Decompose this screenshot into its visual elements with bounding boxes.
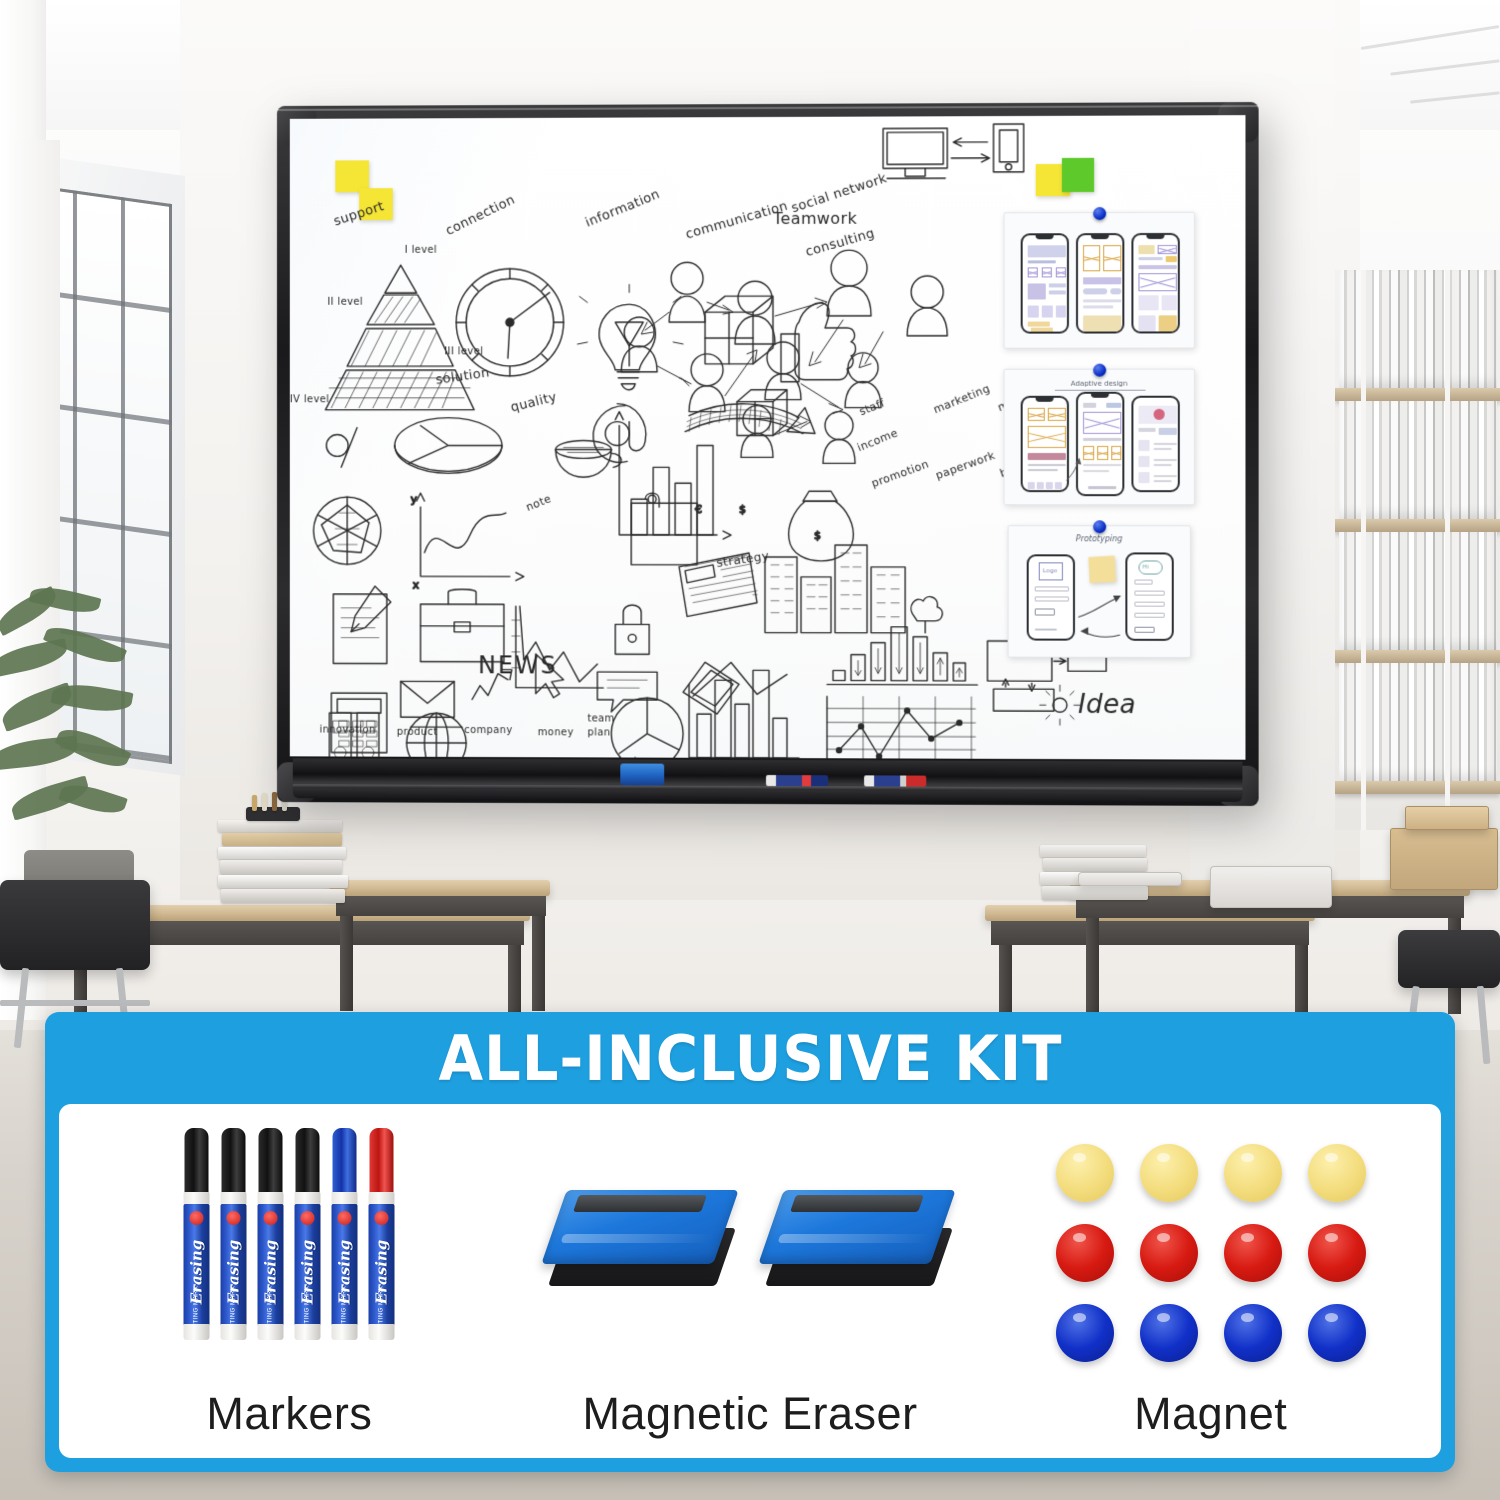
desk-leg: [340, 916, 353, 1011]
kit-column-markers: Erasing LASTING MARK Erasing LASTI: [59, 1104, 520, 1458]
marker-foot: [221, 1324, 247, 1340]
svg-text:paperwork: paperwork: [934, 449, 997, 483]
marker-logo-icon: [227, 1211, 241, 1225]
marker-sub-word: LASTING MARK: [268, 1286, 274, 1326]
marker-sub-word: LASTING MARK: [342, 1286, 348, 1326]
printout-prototyping[interactable]: Prototyping Logo Hi: [1008, 525, 1191, 658]
marker-body: Erasing LASTING MARK: [221, 1204, 247, 1326]
erasers-group: [554, 1182, 946, 1300]
marker-body: Erasing LASTING MARK: [258, 1204, 284, 1326]
cardboard-box-lid: [1405, 806, 1489, 830]
marker-cap: [296, 1128, 320, 1196]
svg-text:promotion: promotion: [870, 457, 931, 490]
office-chair: [0, 880, 150, 970]
marker-foot: [258, 1324, 284, 1340]
phone-wireframe: [1131, 233, 1179, 334]
marker-cap: [222, 1128, 246, 1196]
svg-text:strategy: strategy: [716, 549, 771, 570]
magnetic-eraser: [771, 1182, 946, 1300]
marker-cap: [259, 1128, 283, 1196]
magnetic-eraser: [554, 1182, 729, 1300]
desk-apron: [991, 921, 1309, 945]
whiteboard-pen-tray: [293, 758, 1243, 802]
tray-marker-red[interactable]: [864, 775, 926, 786]
svg-text:plan: plan: [587, 728, 610, 739]
eraser-magnet-strip: [790, 1195, 924, 1212]
magnet-yellow: [1308, 1144, 1366, 1202]
product-image-scene: y x $ € $: [0, 0, 1500, 1500]
kit-card: Erasing LASTING MARK Erasing LASTI: [59, 1104, 1441, 1458]
svg-text:II level: II level: [327, 297, 363, 308]
marker-body: Erasing LASTING MARK: [332, 1204, 358, 1326]
svg-text:company: company: [464, 725, 513, 736]
desk: [330, 880, 550, 896]
svg-text:Teamwork: Teamwork: [772, 209, 858, 228]
kit-label-magnetic-eraser: Magnetic Eraser: [520, 1388, 981, 1440]
book-stack: [218, 820, 348, 910]
eraser-magnet-strip: [573, 1195, 707, 1212]
magnet-blue: [1224, 1304, 1282, 1362]
kit-column-magnetic-eraser: Magnetic Eraser: [520, 1104, 981, 1458]
office-chair: [1398, 930, 1500, 988]
markers-group: Erasing LASTING MARK Erasing LASTI: [184, 1128, 395, 1340]
svg-text:I level: I level: [405, 245, 437, 256]
marker: Erasing LASTING MARK: [258, 1128, 284, 1340]
svg-text:y: y: [411, 493, 418, 506]
phone-wireframe: [1076, 233, 1124, 333]
svg-text:information: information: [583, 187, 662, 231]
marker-cap: [185, 1128, 209, 1196]
magnet-yellow: [1056, 1144, 1114, 1202]
marker-body: Erasing LASTING MARK: [295, 1204, 321, 1326]
marker-body: Erasing LASTING MARK: [369, 1204, 395, 1326]
magnet-blue: [1308, 1304, 1366, 1362]
marker-logo-icon: [264, 1211, 278, 1225]
marker-sub-word: LASTING MARK: [194, 1286, 200, 1326]
magnet-red: [1224, 1224, 1282, 1282]
svg-text:$: $: [739, 503, 746, 516]
kit-banner-title: ALL-INCLUSIVE KIT: [438, 1022, 1062, 1095]
eraser-highlight: [560, 1234, 713, 1243]
svg-text:innovation: innovation: [319, 725, 375, 736]
marker: Erasing LASTING MARK: [221, 1128, 247, 1340]
svg-text:staff: staff: [857, 396, 887, 418]
chair-base: [0, 1000, 150, 1006]
marker-body: Erasing LASTING MARK: [184, 1204, 210, 1326]
svg-text:income: income: [855, 426, 900, 454]
svg-text:quality: quality: [509, 390, 558, 416]
marker-cap: [370, 1128, 394, 1196]
phone-wireframe: [1021, 233, 1069, 333]
desk-leg: [532, 916, 545, 1011]
svg-text:connection: connection: [443, 192, 517, 238]
magnet-yellow: [1140, 1144, 1198, 1202]
marker-logo-icon: [338, 1211, 352, 1225]
marker-sub-word: LASTING MARK: [231, 1286, 237, 1326]
marker-cap: [333, 1128, 357, 1196]
magnet-red: [1308, 1224, 1366, 1282]
kit-label-magnet: Magnet: [980, 1388, 1441, 1440]
marker-logo-icon: [190, 1211, 204, 1225]
magnet-yellow: [1224, 1144, 1282, 1202]
svg-text:$: $: [814, 529, 821, 542]
svg-text:marketing: marketing: [931, 382, 991, 416]
tray-marker-blue[interactable]: [766, 775, 828, 786]
marker: Erasing LASTING MARK: [332, 1128, 358, 1340]
marker-sub-word: LASTING MARK: [379, 1286, 385, 1326]
magnet-blue: [1056, 1304, 1114, 1362]
svg-text:consulting: consulting: [804, 226, 877, 260]
svg-text:III level: III level: [444, 346, 483, 357]
printer: [1210, 866, 1332, 908]
svg-text:x: x: [413, 578, 420, 591]
marker-logo-icon: [375, 1211, 389, 1225]
magnet-red: [1056, 1224, 1114, 1282]
svg-text:€: €: [695, 503, 702, 516]
svg-text:money: money: [538, 727, 574, 738]
cardboard-box: [1390, 828, 1498, 890]
marker-foot: [184, 1324, 210, 1340]
magnets-group: [1056, 1144, 1366, 1362]
magnet-blue[interactable]: [1093, 364, 1106, 377]
marker-logo-icon: [301, 1211, 315, 1225]
svg-text:note: note: [524, 492, 553, 514]
marker: Erasing LASTING MARK: [184, 1128, 210, 1340]
kit-column-magnet: Magnet: [980, 1104, 1441, 1458]
svg-text:product: product: [397, 727, 438, 738]
desk-apron: [336, 896, 546, 916]
marker: Erasing LASTING MARK: [369, 1128, 395, 1340]
potted-plant: [0, 590, 180, 920]
all-inclusive-kit-panel: ALL-INCLUSIVE KIT Erasing LASTING MARK: [45, 1012, 1455, 1472]
magnet-blue[interactable]: [1093, 520, 1106, 533]
magnetic-whiteboard: y x $ € $: [277, 102, 1259, 806]
marker-foot: [332, 1324, 358, 1340]
svg-text:team: team: [587, 714, 614, 725]
svg-text:support: support: [332, 199, 386, 229]
marker: Erasing LASTING MARK: [295, 1128, 321, 1340]
svg-text:IV level: IV level: [290, 394, 329, 405]
paper-tray: [1078, 872, 1182, 886]
bookshelf: [1335, 270, 1500, 830]
eraser-highlight: [777, 1234, 930, 1243]
kit-label-markers: Markers: [59, 1388, 520, 1440]
magnet-red: [1140, 1224, 1198, 1282]
tray-eraser[interactable]: [620, 763, 664, 785]
magnet-blue: [1140, 1304, 1198, 1362]
magnet-blue[interactable]: [1093, 207, 1106, 220]
svg-text:NEWS: NEWS: [478, 652, 558, 680]
svg-text:Idea: Idea: [1078, 690, 1136, 720]
marker-foot: [369, 1324, 395, 1340]
marker-sub-word: LASTING MARK: [305, 1286, 311, 1326]
marker-foot: [295, 1324, 321, 1340]
kit-banner: ALL-INCLUSIVE KIT: [45, 1012, 1455, 1104]
printout-adaptive-design[interactable]: Adaptive design: [1004, 369, 1195, 506]
whiteboard-surface[interactable]: y x $ € $: [290, 115, 1246, 760]
printout-wireframes[interactable]: [1004, 212, 1195, 349]
desk-leg: [1086, 918, 1099, 1014]
